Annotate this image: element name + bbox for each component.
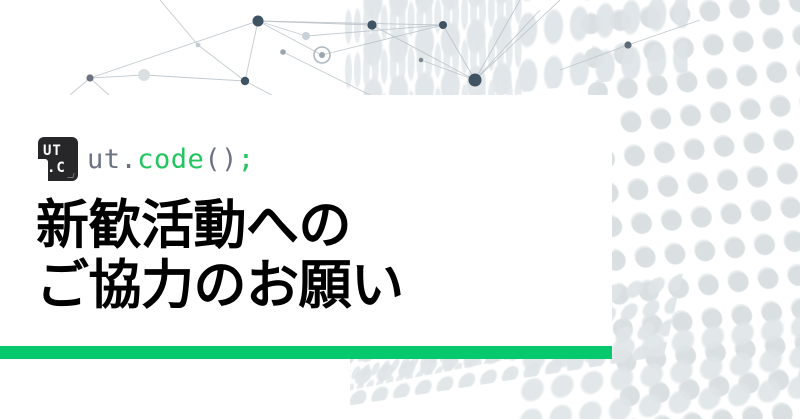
accent-rule [0,346,612,359]
wordmark-prefix: ut. [87,144,137,175]
wordmark: ut.code(); [87,146,255,173]
banner-canvas: UT .C ut.code(); 新歓活動への ご協力のお願い [0,0,800,419]
logo-text-dc: .C [47,161,66,175]
utcode-logo-icon: UT .C [38,137,78,181]
headline: 新歓活動への ご協力のお願い [36,196,404,317]
headline-line-1: 新歓活動への [36,196,404,256]
brand-lockup: UT .C ut.code(); [38,136,255,182]
dot-grid-right-offset [582,0,800,419]
wordmark-parens: () [204,144,238,175]
logo-corner-tick [67,173,74,178]
wordmark-semicolon: ; [238,144,255,175]
panel-mask-bottom [0,358,350,419]
headline-line-2: ご協力のお願い [36,256,404,316]
logo-text-ut: UT [43,144,62,158]
wordmark-code: code [137,144,204,175]
